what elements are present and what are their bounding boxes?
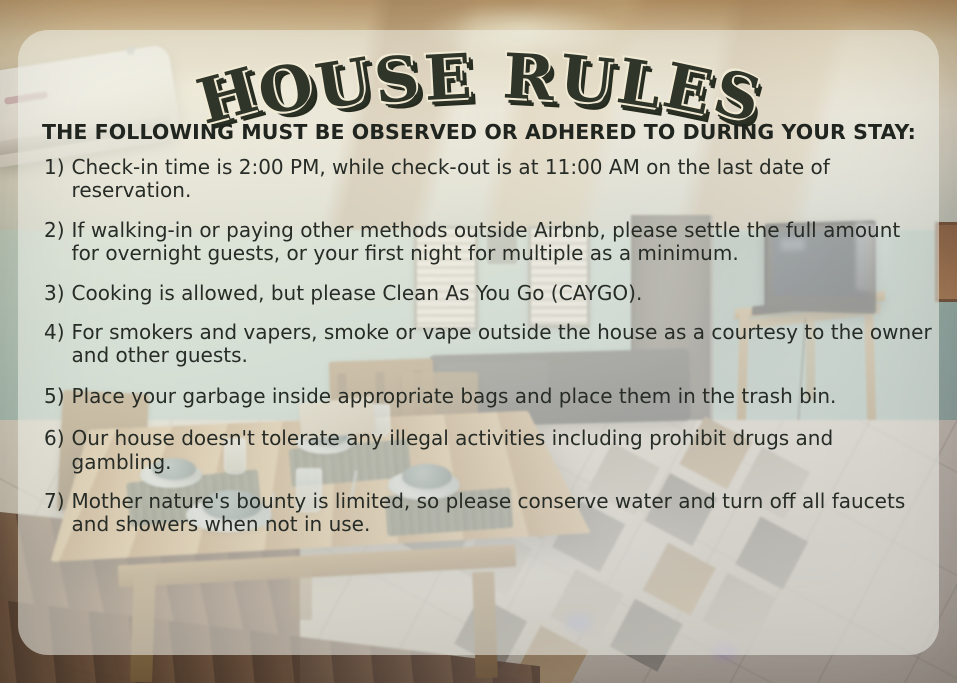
house-rules-poster: HOUSERULES THE FOLLOWING MUST BE OBSERVE… [0,0,957,683]
rule-number: 3) [28,282,65,305]
rule-item: 7)Mother nature's bounty is limited, so … [28,490,933,537]
rule-text: Cooking is allowed, but please Clean As … [72,282,933,305]
rule-text: Mother nature's bounty is limited, so pl… [72,490,933,537]
rule-number: 6) [28,427,65,450]
rule-item: 6)Our house doesn't tolerate any illegal… [28,427,933,474]
rule-text: If walking-in or paying other methods ou… [72,219,933,266]
rule-item: 1)Check-in time is 2:00 PM, while check-… [28,156,933,203]
rules-content: THE FOLLOWING MUST BE OBSERVED OR ADHERE… [28,120,933,550]
rules-list: 1)Check-in time is 2:00 PM, while check-… [28,156,933,537]
rule-number: 5) [28,385,65,408]
rule-item: 3)Cooking is allowed, but please Clean A… [28,282,933,305]
rule-item: 5)Place your garbage inside appropriate … [28,385,933,408]
rule-text: Check-in time is 2:00 PM, while check-ou… [72,156,933,203]
rule-text: Place your garbage inside appropriate ba… [72,385,933,408]
rule-item: 2)If walking-in or paying other methods … [28,219,933,266]
rule-text: For smokers and vapers, smoke or vape ou… [72,321,933,368]
rule-number: 4) [28,321,65,344]
rule-number: 2) [28,219,65,242]
rule-number: 1) [28,156,65,179]
rules-intro-line: THE FOLLOWING MUST BE OBSERVED OR ADHERE… [42,120,933,144]
rule-item: 4)For smokers and vapers, smoke or vape … [28,321,933,368]
rule-number: 7) [28,490,65,513]
rule-text: Our house doesn't tolerate any illegal a… [72,427,933,474]
